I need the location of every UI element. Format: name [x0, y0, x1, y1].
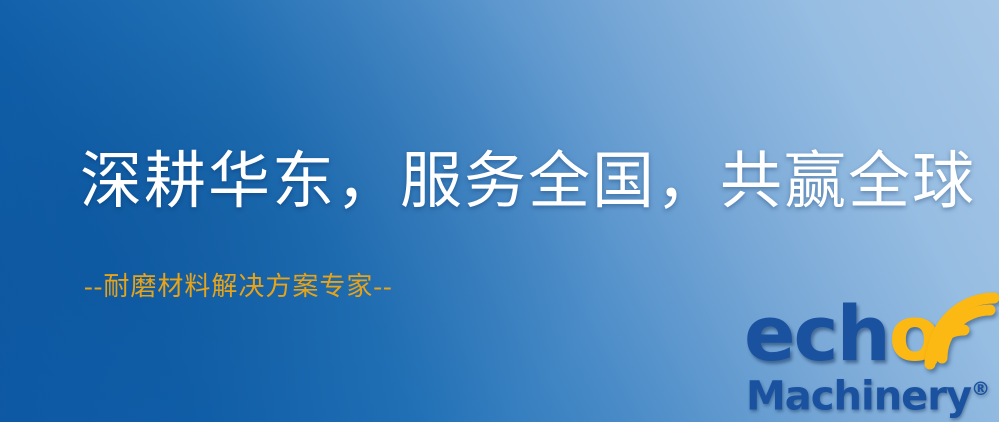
echo-machinery-logo[interactable]: echo Machinery® — [744, 296, 999, 422]
logo-word-ech: ech — [744, 289, 889, 378]
wifi-signal-arcs-icon — [920, 292, 999, 372]
banner-subheadline: --耐磨材料解决方案专家-- — [84, 266, 393, 303]
logo-tagline-text: Machinery — [746, 373, 971, 419]
banner-headline: 深耕华东，服务全国，共赢全球 — [80, 150, 976, 215]
logo-wordmark: echo — [744, 296, 939, 372]
hero-banner: 深耕华东，服务全国，共赢全球 --耐磨材料解决方案专家-- echo Machi… — [0, 0, 999, 422]
registered-trademark-icon: ® — [971, 378, 990, 400]
logo-tagline: Machinery® — [746, 368, 990, 417]
